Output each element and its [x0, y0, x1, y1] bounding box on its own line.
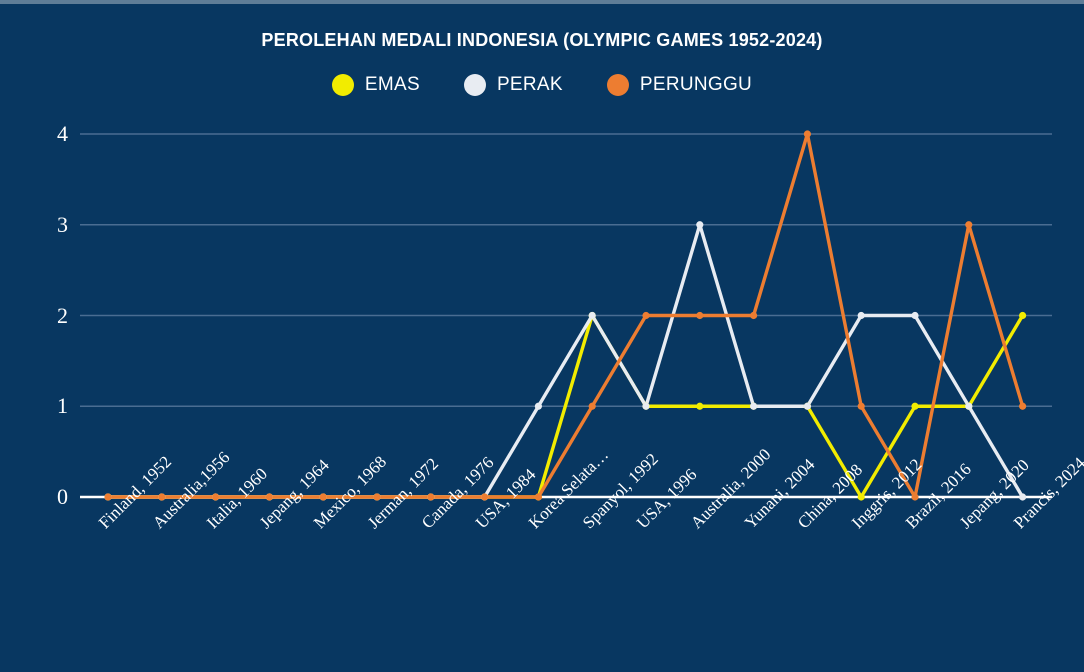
data-point-emas[interactable]	[1019, 312, 1026, 319]
data-point-perak[interactable]	[642, 403, 649, 410]
data-point-perunggu[interactable]	[158, 493, 165, 500]
data-point-perunggu[interactable]	[373, 493, 380, 500]
data-point-perak[interactable]	[804, 403, 811, 410]
plot-area	[0, 0, 1084, 672]
data-point-perunggu[interactable]	[481, 493, 488, 500]
data-point-perunggu[interactable]	[965, 221, 972, 228]
data-point-emas[interactable]	[858, 493, 865, 500]
data-point-perunggu[interactable]	[212, 493, 219, 500]
data-point-perunggu[interactable]	[589, 403, 596, 410]
data-point-perunggu[interactable]	[750, 312, 757, 319]
data-point-perak[interactable]	[965, 403, 972, 410]
data-point-perak[interactable]	[1019, 493, 1026, 500]
data-point-perak[interactable]	[858, 312, 865, 319]
data-point-perak[interactable]	[696, 221, 703, 228]
data-point-perak[interactable]	[750, 403, 757, 410]
data-point-perunggu[interactable]	[1019, 403, 1026, 410]
data-point-perak[interactable]	[589, 312, 596, 319]
data-point-perunggu[interactable]	[320, 493, 327, 500]
data-point-perunggu[interactable]	[696, 312, 703, 319]
data-point-perunggu[interactable]	[858, 403, 865, 410]
data-point-perunggu[interactable]	[911, 493, 918, 500]
chart-container: PEROLEHAN MEDALI INDONESIA (OLYMPIC GAME…	[0, 0, 1084, 672]
data-point-perunggu[interactable]	[642, 312, 649, 319]
data-point-perak[interactable]	[911, 312, 918, 319]
data-point-perunggu[interactable]	[804, 130, 811, 137]
data-point-emas[interactable]	[696, 403, 703, 410]
data-point-perunggu[interactable]	[104, 493, 111, 500]
data-point-perak[interactable]	[535, 403, 542, 410]
data-point-perunggu[interactable]	[427, 493, 434, 500]
data-point-emas[interactable]	[911, 403, 918, 410]
data-point-perunggu[interactable]	[266, 493, 273, 500]
data-point-perunggu[interactable]	[535, 493, 542, 500]
